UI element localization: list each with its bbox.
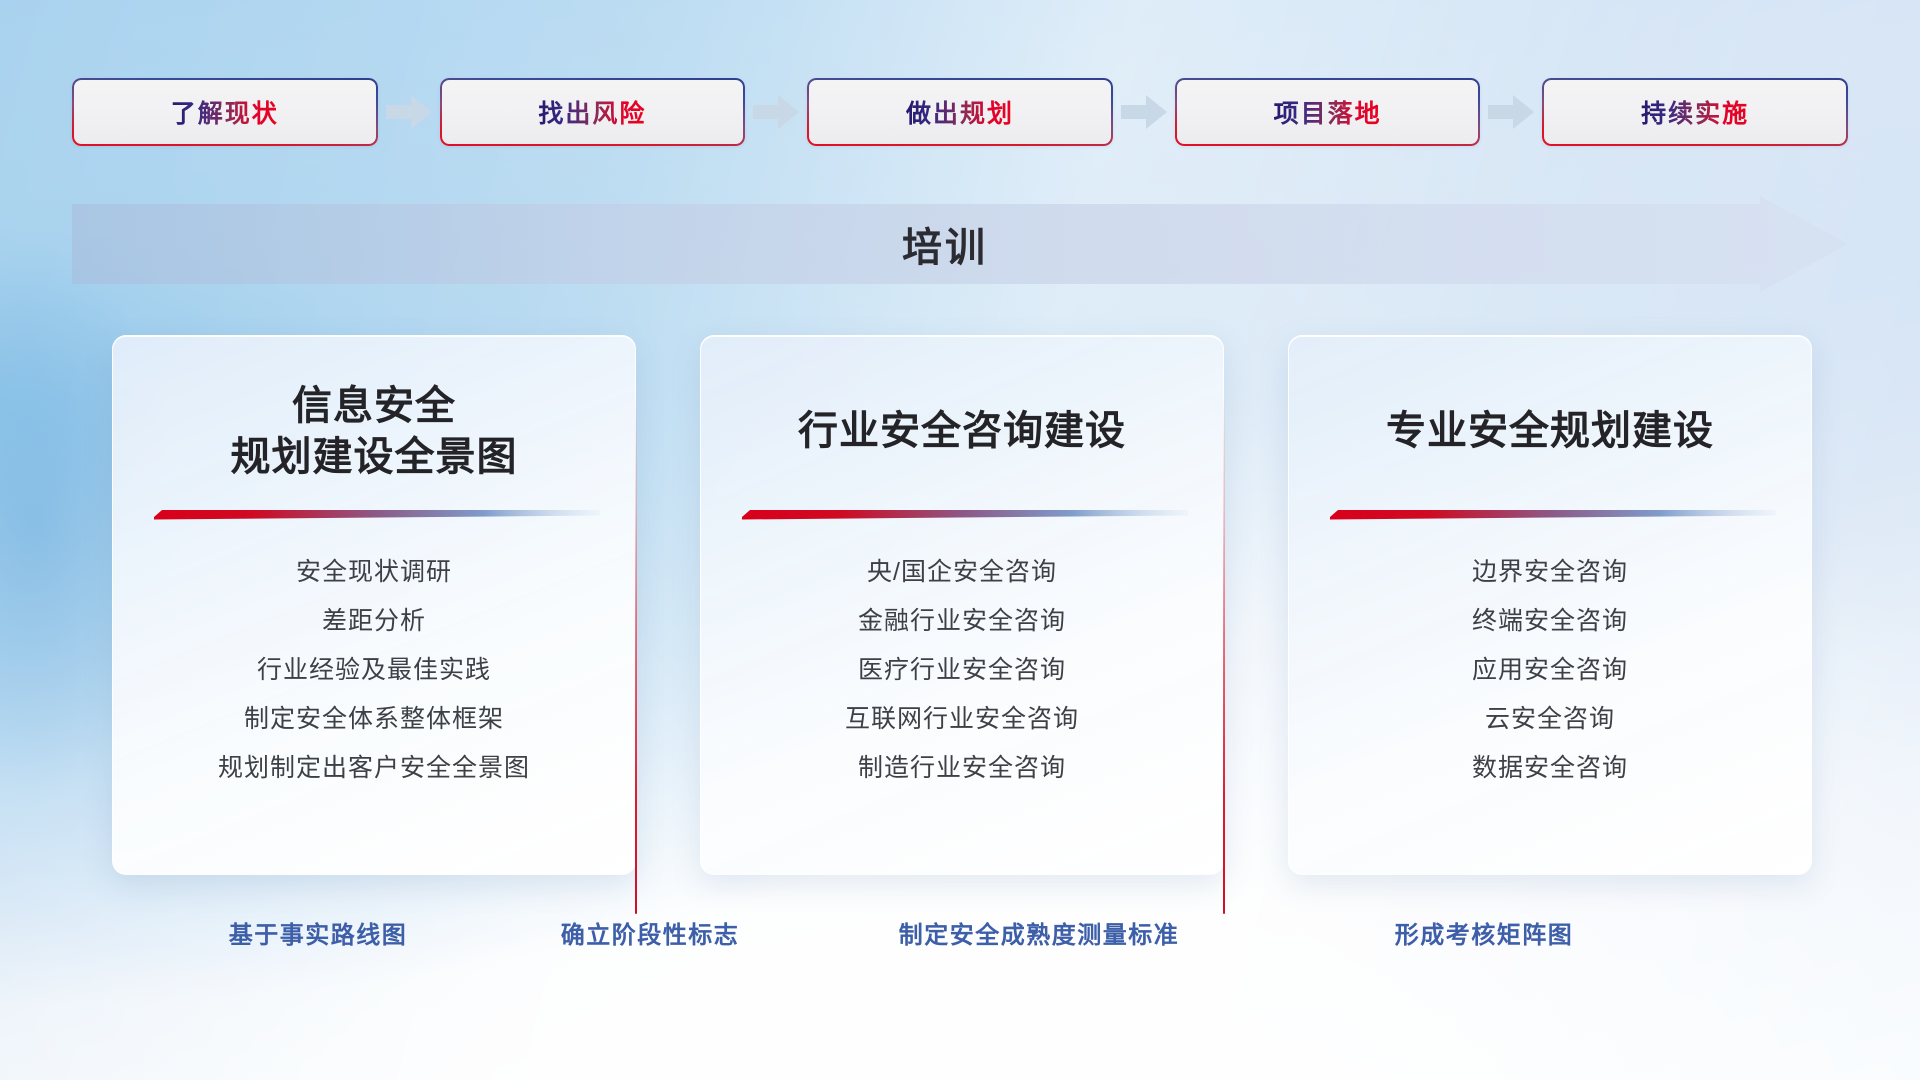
list-item: 数据安全咨询 xyxy=(1315,744,1785,793)
card-3-list: 边界安全咨询 终端安全咨询 应用安全咨询 云安全咨询 数据安全咨询 xyxy=(1315,548,1785,793)
list-item: 金融行业安全咨询 xyxy=(727,597,1197,646)
list-item: 行业经验及最佳实践 xyxy=(139,646,609,695)
list-item: 规划制定出客户安全全景图 xyxy=(139,744,609,793)
list-item: 终端安全咨询 xyxy=(1315,597,1785,646)
list-item: 云安全咨询 xyxy=(1315,695,1785,744)
list-item: 制定安全体系整体框架 xyxy=(139,695,609,744)
process-arrow-3-icon xyxy=(1113,92,1175,132)
process-step-5[interactable]: 持续实施 xyxy=(1542,78,1848,146)
list-item: 边界安全咨询 xyxy=(1315,548,1785,597)
footnote-4: 形成考核矩阵图 xyxy=(1395,915,1574,950)
footnote-3: 制定安全成熟度测量标准 xyxy=(899,915,1180,950)
footnote-row: 基于事实路线图 确立阶段性标志 制定安全成熟度测量标准 形成考核矩阵图 xyxy=(72,915,1848,959)
list-item: 互联网行业安全咨询 xyxy=(727,695,1197,744)
process-arrow-2-icon xyxy=(745,92,807,132)
card-3-divider-icon xyxy=(1324,506,1776,522)
list-item: 央/国企安全咨询 xyxy=(727,548,1197,597)
process-step-1[interactable]: 了解现状 xyxy=(72,78,378,146)
training-banner-label: 培训 xyxy=(72,196,1848,292)
slide-stage: 了解现状 找出风险 做出规划 项目落地 xyxy=(0,0,1920,1080)
process-step-4[interactable]: 项目落地 xyxy=(1175,78,1481,146)
card-2-red-accent xyxy=(1223,392,1225,914)
process-step-4-label: 项目落地 xyxy=(1274,94,1382,130)
footnote-2: 确立阶段性标志 xyxy=(561,915,740,950)
card-3[interactable]: 专业安全规划建设 边界安全咨询 xyxy=(1288,335,1812,875)
card-1-divider-icon xyxy=(148,506,600,522)
card-1-list: 安全现状调研 差距分析 行业经验及最佳实践 制定安全体系整体框架 规划制定出客户… xyxy=(139,548,609,793)
card-2-title: 行业安全咨询建设 xyxy=(798,380,1126,484)
card-2-divider-icon xyxy=(736,506,1188,522)
list-item: 安全现状调研 xyxy=(139,548,609,597)
card-2[interactable]: 行业安全咨询建设 央/国企安全咨询 xyxy=(700,335,1224,875)
process-arrow-4-icon xyxy=(1480,92,1542,132)
card-1-red-accent xyxy=(635,392,637,914)
list-item: 差距分析 xyxy=(139,597,609,646)
process-step-1-label: 了解现状 xyxy=(171,94,279,130)
process-step-row: 了解现状 找出风险 做出规划 项目落地 xyxy=(72,78,1848,146)
process-arrow-1-icon xyxy=(378,92,440,132)
footnote-1: 基于事实路线图 xyxy=(229,915,408,950)
card-1[interactable]: 信息安全 规划建设全景图 安全现状调研 xyxy=(112,335,636,875)
list-item: 制造行业安全咨询 xyxy=(727,744,1197,793)
process-step-5-label: 持续实施 xyxy=(1641,94,1749,130)
card-1-title: 信息安全 规划建设全景图 xyxy=(231,380,518,484)
card-3-title: 专业安全规划建设 xyxy=(1386,380,1714,484)
process-step-2[interactable]: 找出风险 xyxy=(440,78,746,146)
list-item: 应用安全咨询 xyxy=(1315,646,1785,695)
card-2-list: 央/国企安全咨询 金融行业安全咨询 医疗行业安全咨询 互联网行业安全咨询 制造行… xyxy=(727,548,1197,793)
process-step-3-label: 做出规划 xyxy=(906,94,1014,130)
training-banner: 培训 xyxy=(72,196,1848,292)
process-step-3[interactable]: 做出规划 xyxy=(807,78,1113,146)
list-item: 医疗行业安全咨询 xyxy=(727,646,1197,695)
process-step-2-label: 找出风险 xyxy=(538,94,646,130)
cards-row: 信息安全 规划建设全景图 安全现状调研 xyxy=(112,335,1812,875)
